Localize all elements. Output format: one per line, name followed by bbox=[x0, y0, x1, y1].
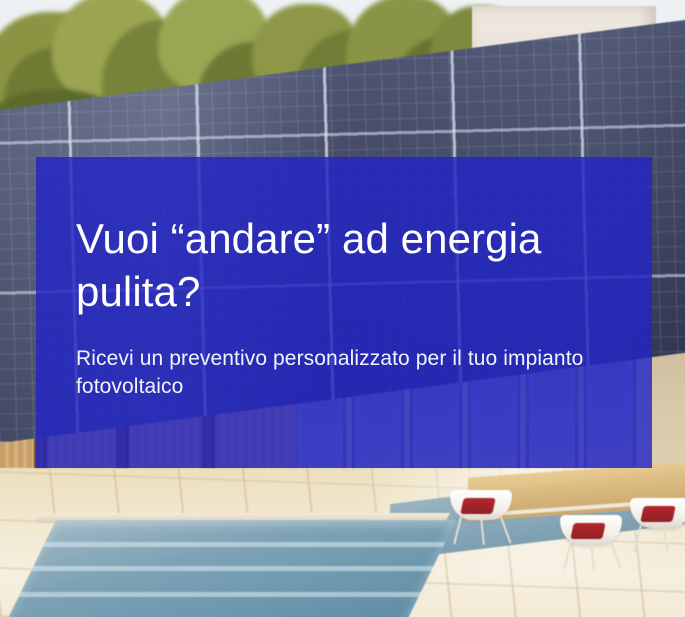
hero-overlay-panel: Vuoi “andare” ad energia pulita? Ricevi … bbox=[36, 157, 652, 468]
hero-subtitle: Ricevi un preventivo personalizzato per … bbox=[76, 345, 596, 401]
hero-banner: Vuoi “andare” ad energia pulita? Ricevi … bbox=[0, 0, 685, 617]
patio-chair bbox=[560, 515, 622, 555]
swimming-pool bbox=[2, 520, 456, 617]
patio-chair bbox=[450, 490, 512, 530]
hero-title: Vuoi “andare” ad energia pulita? bbox=[76, 213, 616, 319]
patio-chair bbox=[630, 498, 685, 538]
